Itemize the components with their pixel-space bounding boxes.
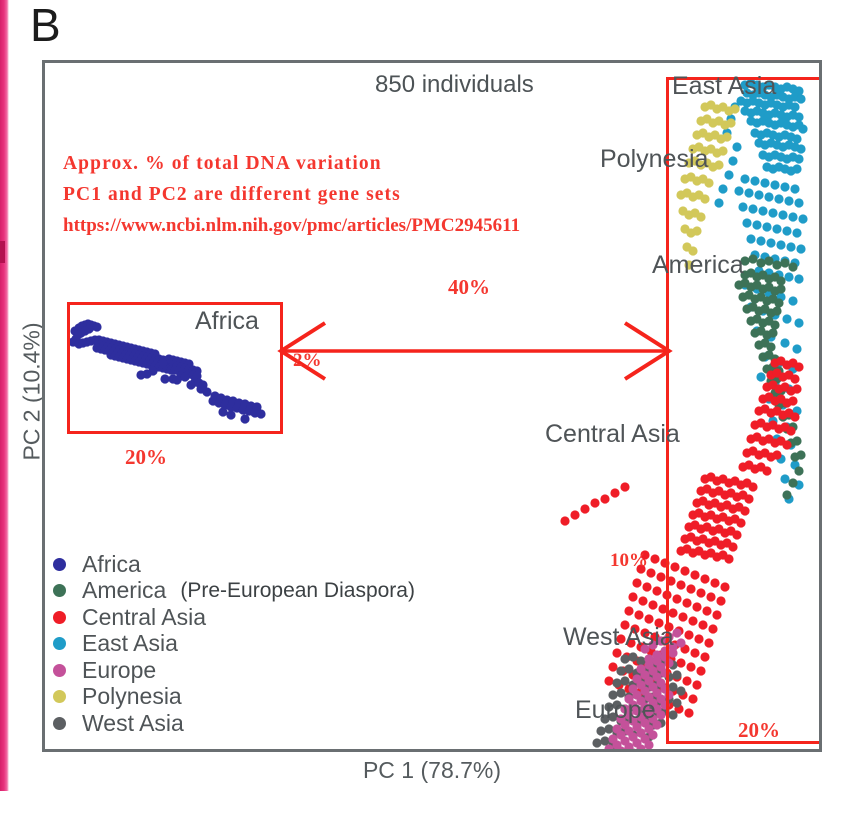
plot-frame: 850 individuals Approx. % of total DNA v… [42,60,822,752]
eurasia-highlight-box [666,77,819,744]
legend-item: Central Asia [53,604,415,631]
legend-item: Polynesia [53,684,415,711]
legend-item: West Asia [53,710,415,737]
legend-item: Europe [53,657,415,684]
left-edge-strip [0,0,9,791]
pct-label-europe-width: 20% [738,718,780,743]
pct-label-africa-height: 2% [293,350,322,372]
legend-label-america: America [82,577,166,604]
legend-color-swatch-europe [53,664,66,677]
legend-color-swatch-africa [53,558,66,571]
legend-color-swatch-central-asia [53,611,66,624]
legend-item: America (Pre-European Diaspora) [53,578,415,605]
cluster-label-america: America [652,251,744,280]
legend: Africa America (Pre-European Diaspora) C… [53,551,415,737]
annotation-line-2: PC1 and PC2 are different gene sets [63,179,520,210]
plot-area: 850 individuals Approx. % of total DNA v… [45,63,819,749]
figure-root: B PC 2 (10.4%) PC 1 (78.7%) 850 individu… [0,0,849,837]
legend-label-polynesia: Polynesia [82,683,182,710]
legend-color-swatch-west-asia [53,717,66,730]
pct-label-central-asia: 10% [610,550,648,572]
legend-label-europe: Europe [82,657,156,684]
cluster-label-polynesia: Polynesia [600,145,708,174]
annotation-line-3: https://www.ncbi.nlm.nih.gov/pmc/article… [63,210,520,241]
cluster-label-europe: Europe [575,696,656,725]
left-edge-strip-accent [0,241,5,263]
annotation-text: Approx. % of total DNA variation PC1 and… [63,148,520,241]
legend-color-swatch-east-asia [53,637,66,650]
pc1-span-arrow [275,321,675,381]
legend-label-west-asia: West Asia [82,710,184,737]
legend-color-swatch-polynesia [53,690,66,703]
panel-label: B [30,2,61,48]
cluster-label-central-asia: Central Asia [545,420,680,449]
pct-label-africa-width: 20% [125,445,167,470]
legend-note: (Pre-European Diaspora) [180,579,415,603]
pct-label-arrow-span: 40% [448,275,490,300]
chart-title: 850 individuals [375,71,534,99]
legend-label-africa: Africa [82,551,141,578]
x-axis-label: PC 1 (78.7%) [42,757,822,784]
cluster-label-africa: Africa [195,307,259,336]
legend-color-swatch-america [53,584,66,597]
cluster-label-west-asia: West Asia [563,623,674,652]
legend-label-central-asia: Central Asia [82,604,206,631]
cluster-label-east-asia: East Asia [672,72,776,101]
annotation-line-1: Approx. % of total DNA variation [63,148,520,179]
legend-item: Africa [53,551,415,578]
legend-item: East Asia [53,631,415,658]
legend-label-east-asia: East Asia [82,630,178,657]
